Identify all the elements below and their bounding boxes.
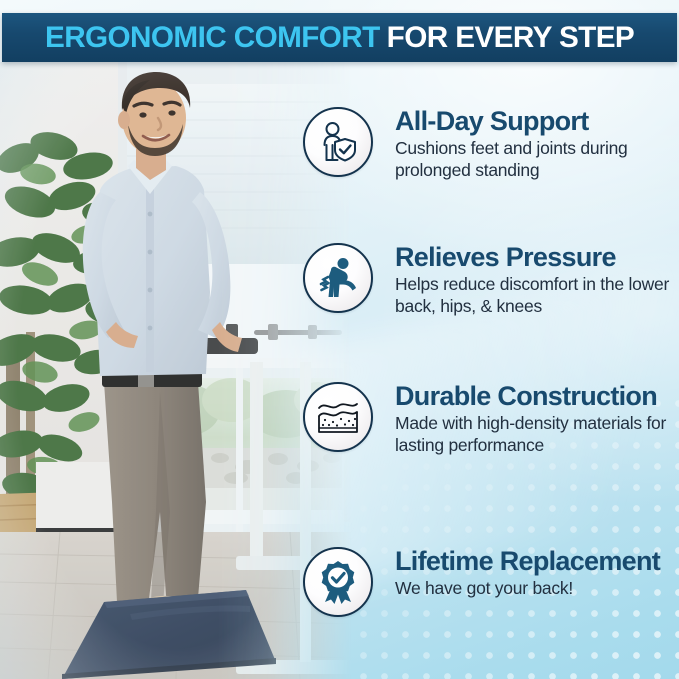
headline: ERGONOMIC COMFORTFOR EVERY STEP: [45, 23, 634, 53]
feature-row-durable-construction: Durable Construction Made with high-dens…: [303, 382, 679, 456]
feature-icon-circle: [303, 382, 373, 452]
header-banner: ERGONOMIC COMFORTFOR EVERY STEP: [2, 13, 677, 62]
feature-description: Cushions feet and joints during prolonge…: [395, 137, 679, 181]
feature-text-block: Durable Construction Made with high-dens…: [373, 382, 679, 456]
feature-icon-circle: [303, 243, 373, 313]
award-badge-check-icon: [317, 560, 359, 604]
product-feature-poster: ERGONOMIC COMFORTFOR EVERY STEP All-Day …: [0, 0, 679, 679]
headline-highlight: ERGONOMIC COMFORT: [45, 21, 380, 54]
feature-title: Lifetime Replacement: [395, 547, 660, 576]
lifestyle-photo: [0, 62, 352, 679]
feature-icon-circle: [303, 107, 373, 177]
person-shield-icon: [318, 121, 358, 163]
feature-text-block: All-Day Support Cushions feet and joints…: [373, 107, 679, 181]
photo-illustration: [0, 62, 352, 679]
feature-row-all-day-support: All-Day Support Cushions feet and joints…: [303, 107, 679, 181]
feature-title: Durable Construction: [395, 382, 679, 411]
feature-text-block: Lifetime Replacement We have got your ba…: [373, 547, 660, 599]
feature-text-block: Relieves Pressure Helps reduce discomfor…: [373, 243, 679, 317]
foam-layers-icon: [315, 397, 361, 437]
back-pain-person-icon: [317, 257, 359, 299]
feature-icon-circle: [303, 547, 373, 617]
feature-description: Helps reduce discomfort in the lower bac…: [395, 273, 679, 317]
headline-rest: FOR EVERY STEP: [387, 21, 635, 54]
feature-row-relieves-pressure: Relieves Pressure Helps reduce discomfor…: [303, 243, 679, 317]
feature-description: We have got your back!: [395, 577, 660, 599]
feature-description: Made with high-density materials for las…: [395, 412, 679, 456]
feature-title: Relieves Pressure: [395, 243, 679, 272]
feature-row-lifetime-replacement: Lifetime Replacement We have got your ba…: [303, 547, 660, 617]
feature-title: All-Day Support: [395, 107, 679, 136]
